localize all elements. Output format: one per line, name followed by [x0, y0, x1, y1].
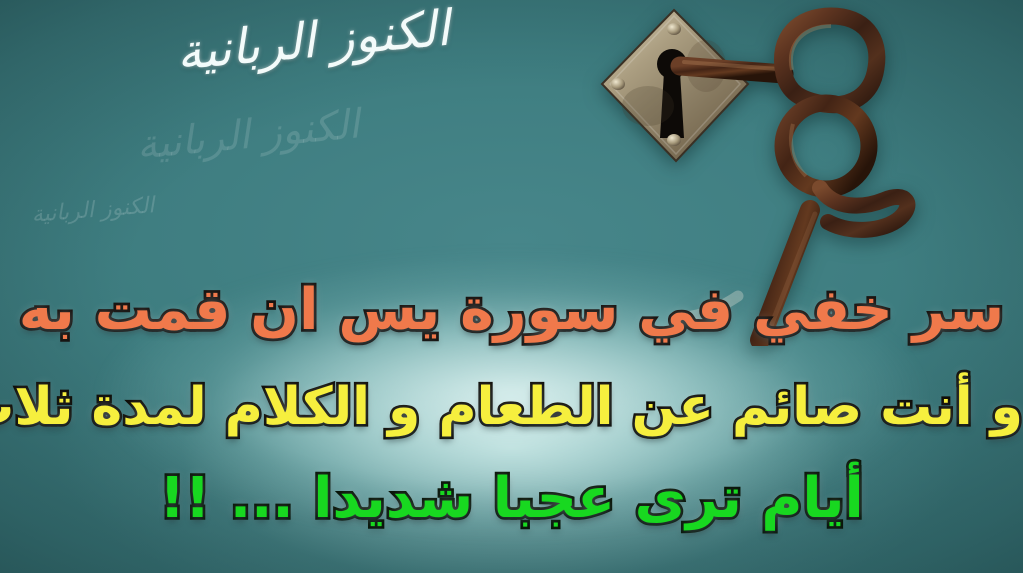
keyhole-plate-icon: [602, 10, 748, 161]
message-line-1: سر خفي في سورة يس ان قمت به: [0, 281, 1023, 340]
message-line-3: أيام ترى عجبا شديدا ... !!: [0, 470, 1023, 528]
message-line-2: و أنت صائم عن الطعام و الكلام لمدة ثلاث: [0, 380, 1023, 434]
poster-canvas: الكنوز الربانية الكنوز الربانية: [0, 0, 1023, 573]
